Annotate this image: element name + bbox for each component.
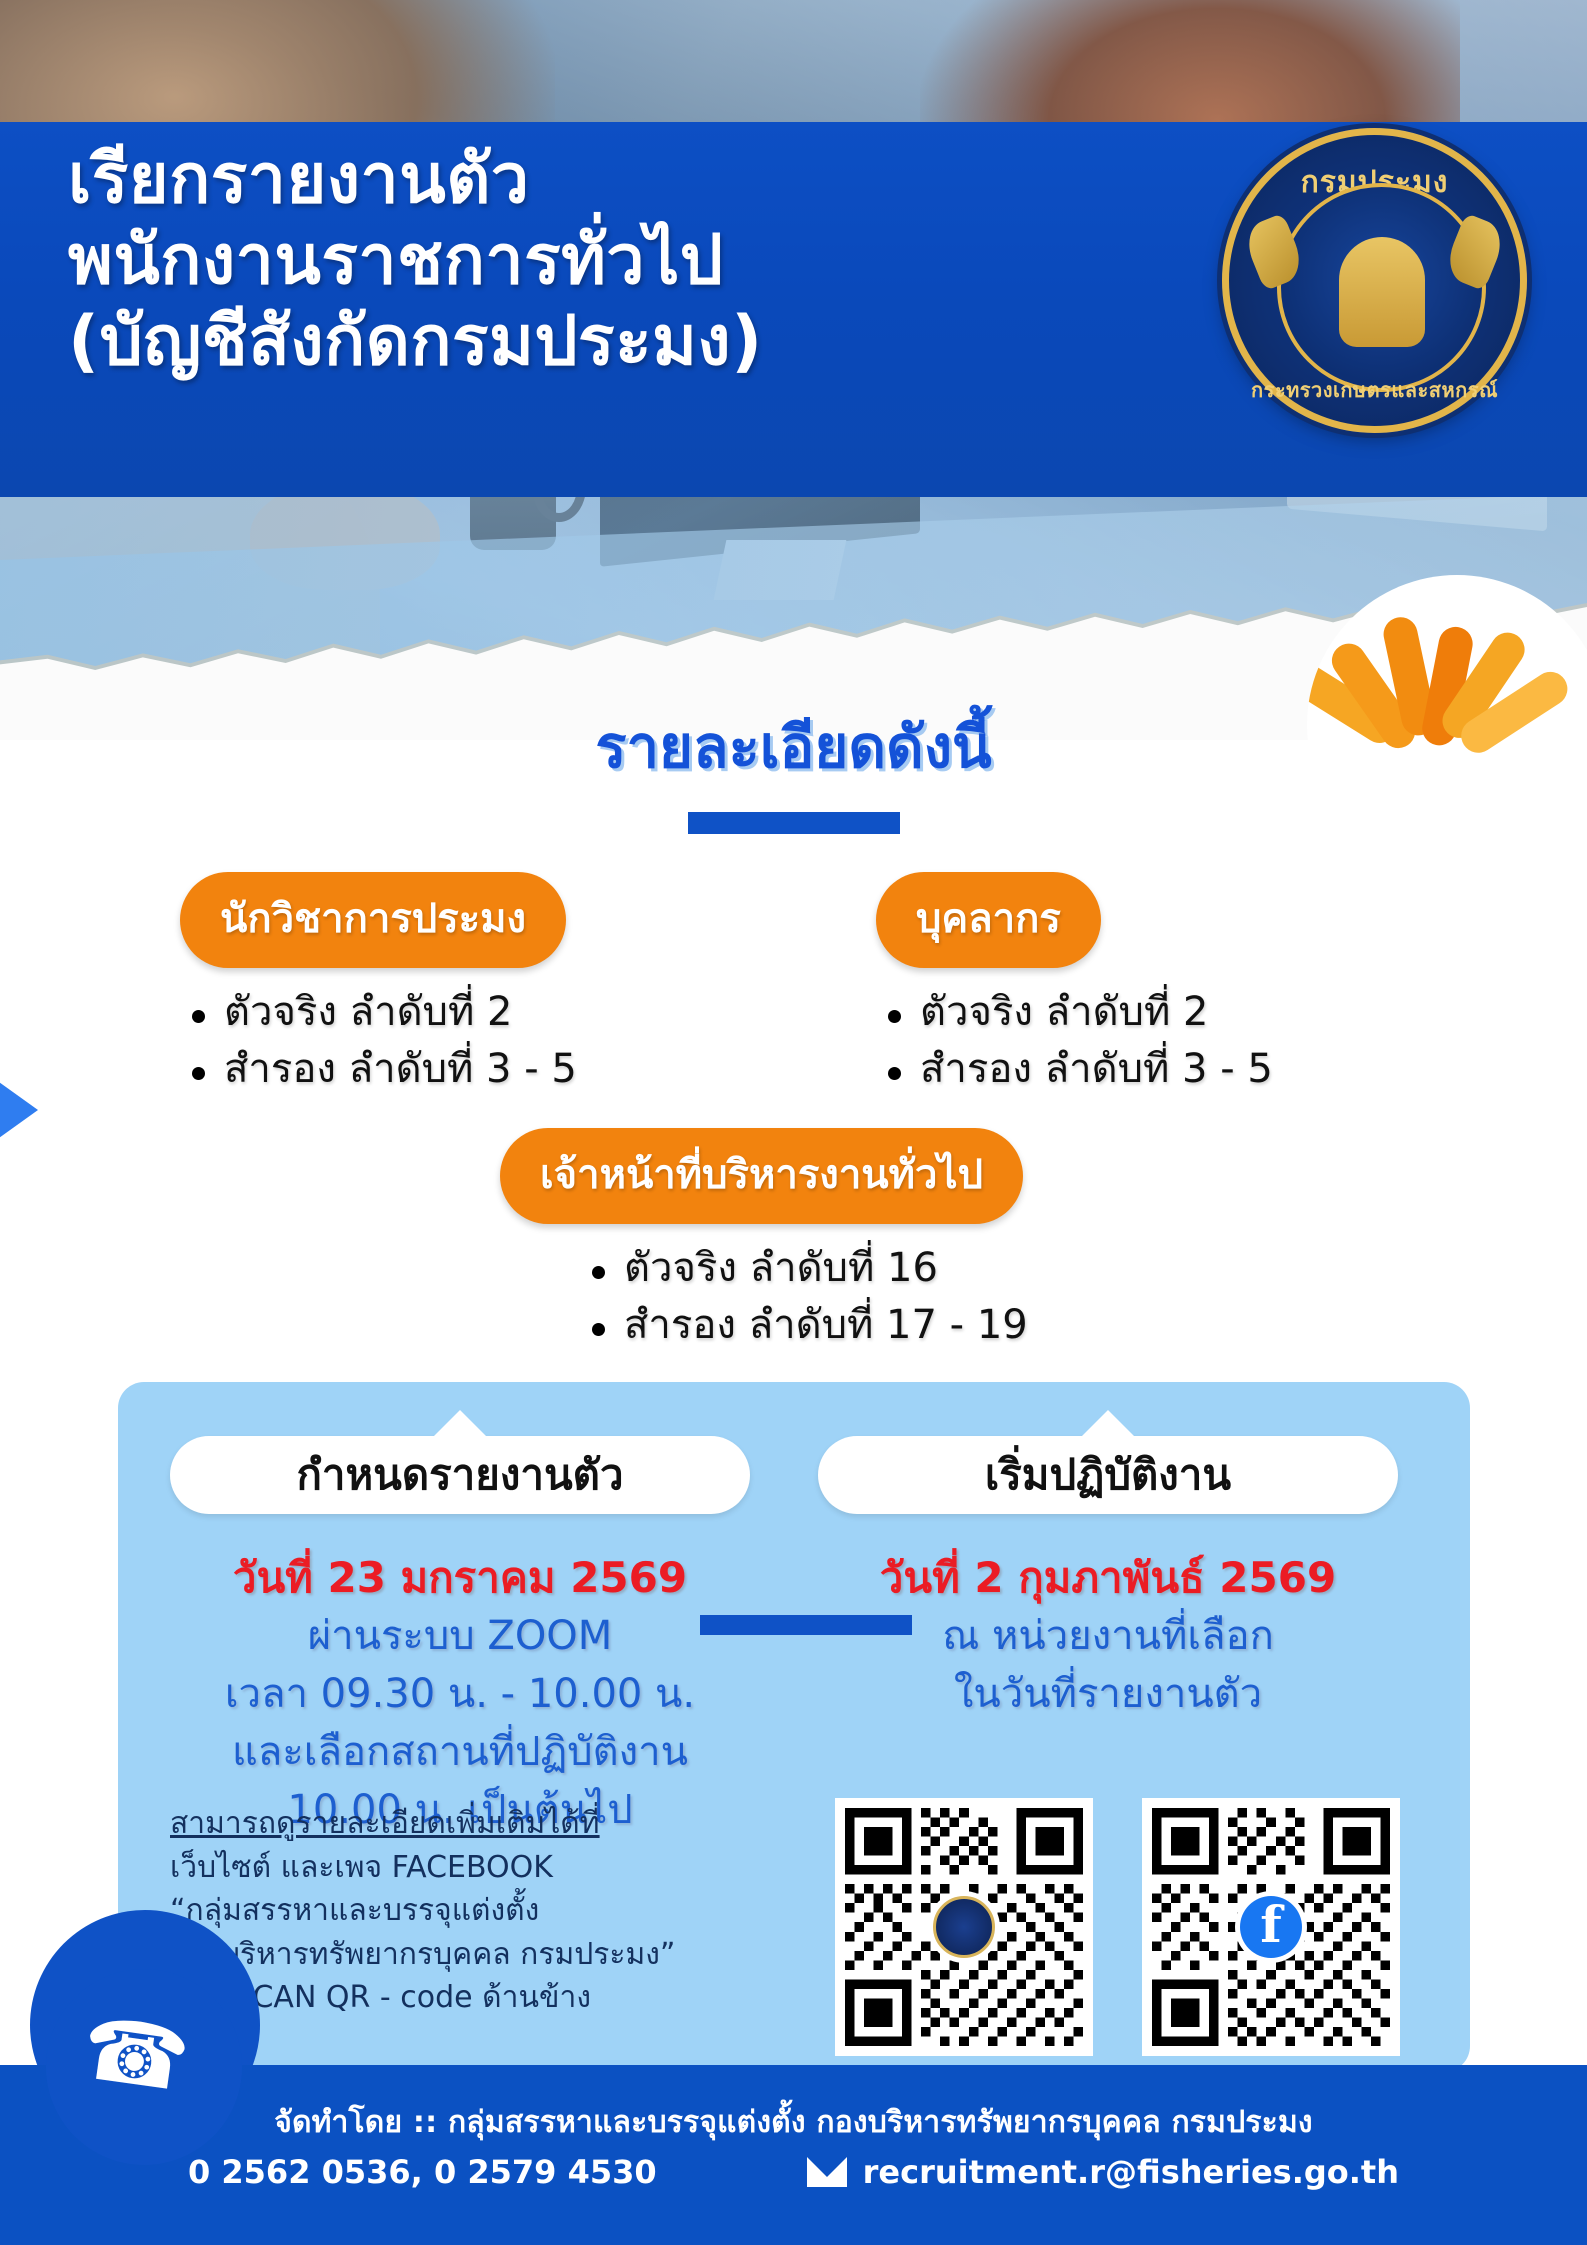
schedule-column-start: วันที่ 2 กุมภาพันธ์ 2569 ณ หน่วยงานที่เล… — [818, 1550, 1398, 1723]
start-column-rule — [700, 1615, 912, 1635]
position-block-bukkhalakon: บุคลากร ตัวจริง ลำดับที่ 2 สำรอง ลำดับที… — [876, 872, 1273, 1098]
footer-email: recruitment.r@fisheries.go.th — [863, 2153, 1399, 2191]
mail-icon — [807, 2157, 847, 2187]
footer-credit: จัดทำโดย :: กลุ่มสรรหาและบรรจุแต่งตั้ง ก… — [0, 2099, 1587, 2146]
report-date: วันที่ 23 มกราคม 2569 — [170, 1550, 750, 1607]
start-date: วันที่ 2 กุมภาพันธ์ 2569 — [818, 1550, 1398, 1607]
chevron-front-icon — [0, 1054, 38, 1166]
position-pill-label: บุคลากร — [876, 872, 1101, 968]
note-line: เว็บไซต์ และเพจ FACEBOOK — [170, 1850, 553, 1885]
emblem-figure-icon — [1339, 237, 1425, 347]
position-bullet-list: ตัวจริง ลำดับที่ 2 สำรอง ลำดับที่ 3 - 5 — [180, 984, 577, 1098]
department-emblem: กรมประมง กระทรวงเกษตรและสหกรณ์ — [1222, 128, 1527, 433]
list-item: สำรอง ลำดับที่ 17 - 19 — [580, 1297, 1028, 1354]
qr-website-badge — [928, 1891, 1000, 1963]
phone-icon: ☎ — [76, 1998, 196, 2112]
emblem-inner-ring — [1277, 183, 1486, 392]
tab-report-deadline: กำหนดรายงานตัว — [170, 1436, 750, 1514]
footer-email-wrap: recruitment.r@fisheries.go.th — [807, 2153, 1399, 2191]
qr-facebook-badge: f — [1235, 1891, 1307, 1963]
position-bullet-list: ตัวจริง ลำดับที่ 2 สำรอง ลำดับที่ 3 - 5 — [876, 984, 1273, 1098]
footer-contact-row: 0 2562 0536, 0 2579 4530 recruitment.r@f… — [0, 2153, 1587, 2191]
note-line: กองบริหารทรัพยากรบุคคล กรมประมง” — [170, 1937, 675, 1972]
schedule-column-report: วันที่ 23 มกราคม 2569 ผ่านระบบ ZOOM เวลา… — [170, 1550, 750, 1839]
fisheries-seal-icon — [933, 1896, 995, 1958]
list-item: สำรอง ลำดับที่ 3 - 5 — [180, 1041, 577, 1098]
qr-code-facebook[interactable]: f — [1142, 1798, 1400, 2056]
title-line-3: (บัญชีสังกัดกรมประมง) — [68, 302, 1098, 383]
report-detail-line: ผ่านระบบ ZOOM — [170, 1607, 750, 1665]
list-item: ตัวจริง ลำดับที่ 16 — [580, 1240, 1028, 1297]
qr-code-website[interactable] — [835, 1798, 1093, 2056]
note-heading: สามารถดูรายละเอียดเพิ่มเติมได้ที่ — [170, 1802, 690, 1846]
section-heading: รายละเอียดดังนี้ — [0, 700, 1587, 793]
footer-phone: 0 2562 0536, 0 2579 4530 — [188, 2153, 657, 2191]
facebook-logo-icon: f — [1240, 1896, 1302, 1958]
section-heading-rule — [688, 812, 900, 834]
list-item: ตัวจริง ลำดับที่ 2 — [180, 984, 577, 1041]
title-line-2: พนักงานราชการทั่วไป — [68, 221, 1098, 302]
page-title: เรียกรายงานตัว พนักงานราชการทั่วไป (บัญช… — [68, 140, 1098, 383]
position-block-chaonathi: เจ้าหน้าที่บริหารงานทั่วไป ตัวจริง ลำดับ… — [500, 1128, 1028, 1354]
position-bullet-list: ตัวจริง ลำดับที่ 16 สำรอง ลำดับที่ 17 - … — [580, 1240, 1028, 1354]
blue-chevron-decor — [0, 1010, 108, 1210]
start-detail-line: ในวันที่รายงานตัว — [818, 1665, 1398, 1723]
report-detail-line: เวลา 09.30 น. - 10.00 น. — [170, 1665, 750, 1723]
position-block-nak-wichakan: นักวิชาการประมง ตัวจริง ลำดับที่ 2 สำรอง… — [180, 872, 577, 1098]
position-pill-label: เจ้าหน้าที่บริหารงานทั่วไป — [500, 1128, 1023, 1224]
title-line-1: เรียกรายงานตัว — [68, 140, 1098, 221]
tab-start-work: เริ่มปฏิบัติงาน — [818, 1436, 1398, 1514]
list-item: ตัวจริง ลำดับที่ 2 — [876, 984, 1273, 1041]
list-item: สำรอง ลำดับที่ 3 - 5 — [876, 1041, 1273, 1098]
emblem-bottom-text: กระทรวงเกษตรและสหกรณ์ — [1229, 374, 1520, 406]
note-line: “กลุ่มสรรหาและบรรจุแต่งตั้ง — [170, 1893, 539, 1928]
position-pill-label: นักวิชาการประมง — [180, 872, 566, 968]
report-detail-line: และเลือกสถานที่ปฏิบัติงาน — [170, 1723, 750, 1781]
